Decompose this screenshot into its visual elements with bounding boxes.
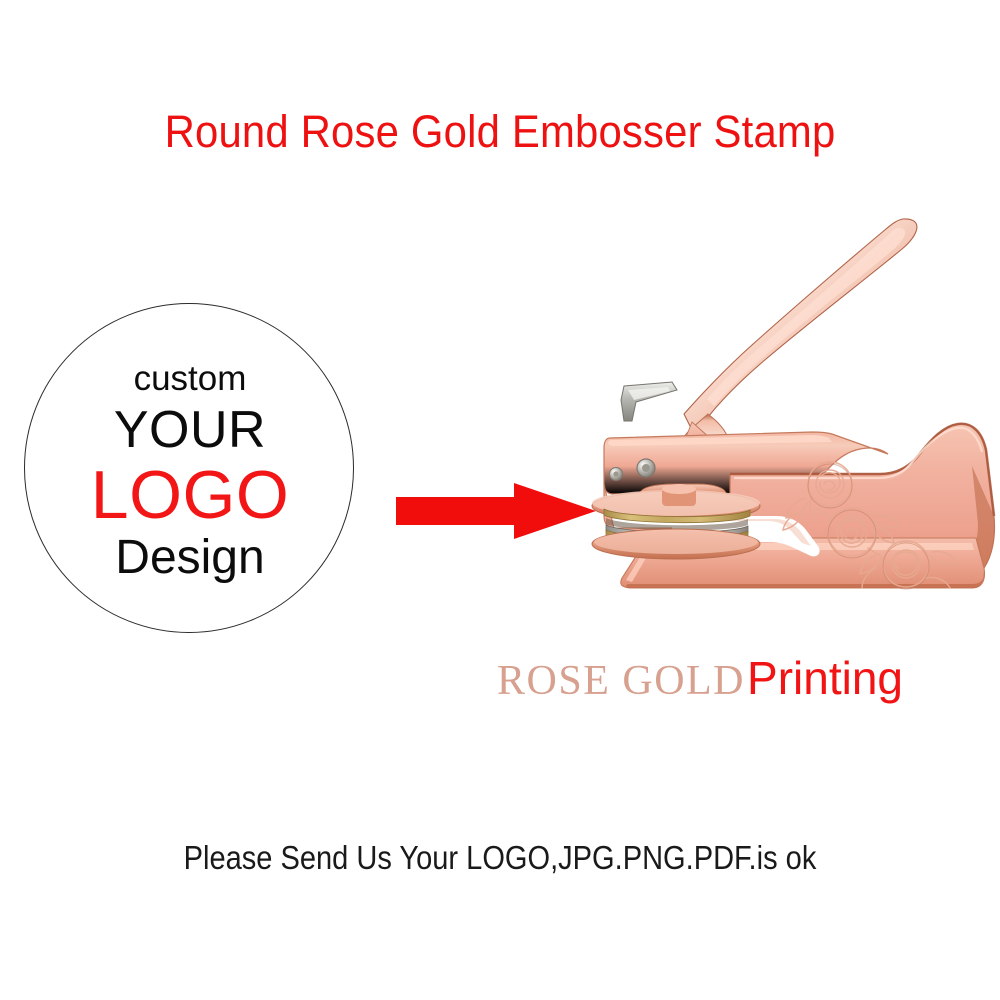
pivot-screw-large-inner	[642, 464, 650, 472]
logo-line-custom: custom	[134, 359, 247, 399]
printing-text: Printing	[747, 655, 903, 701]
product-image-canvas: Round Rose Gold Embosser Stamp custom YO…	[0, 0, 1000, 1000]
logo-line-logo: LOGO	[91, 459, 290, 531]
lever-highlight	[707, 228, 905, 406]
die-plate-lower-face	[594, 530, 758, 554]
rose-gold-printing-label: ROSE GOLD Printing	[497, 655, 997, 711]
page-title: Round Rose Gold Embosser Stamp	[35, 104, 965, 160]
spring-clip	[621, 382, 677, 421]
logo-line-your: YOUR	[114, 401, 266, 459]
logo-preview-text-block: custom YOUR LOGO Design	[25, 304, 355, 634]
logo-preview-circle: custom YOUR LOGO Design	[24, 303, 354, 633]
footer-instruction: Please Send Us Your LOGO,JPG.PNG.PDF.is …	[60, 838, 940, 878]
logo-line-design: Design	[115, 531, 264, 585]
die-center-post-top	[662, 484, 696, 494]
pivot-screw-small-inner	[613, 471, 618, 476]
rose-gold-text: ROSE GOLD	[497, 658, 745, 704]
right-arrow-icon	[396, 483, 596, 539]
embosser-stamp-illustration	[580, 216, 1000, 616]
